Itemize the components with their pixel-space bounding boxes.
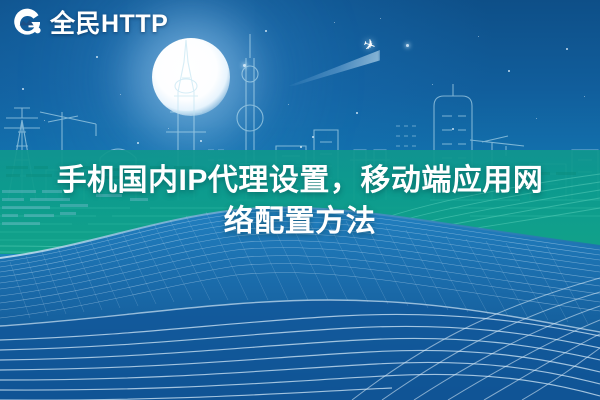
page-title: 手机国内IP代理设置，移动端应用网 络配置方法 — [26, 160, 574, 242]
title-line-1: 手机国内IP代理设置，移动端应用网 — [26, 160, 574, 201]
title-line-2: 络配置方法 — [26, 201, 574, 242]
promo-banner: ✈ — [0, 0, 600, 400]
brand-name: 全民HTTP — [50, 12, 168, 37]
circular-wave-logo-icon — [10, 7, 44, 41]
brand-logo[interactable]: 全民HTTP — [10, 7, 168, 41]
